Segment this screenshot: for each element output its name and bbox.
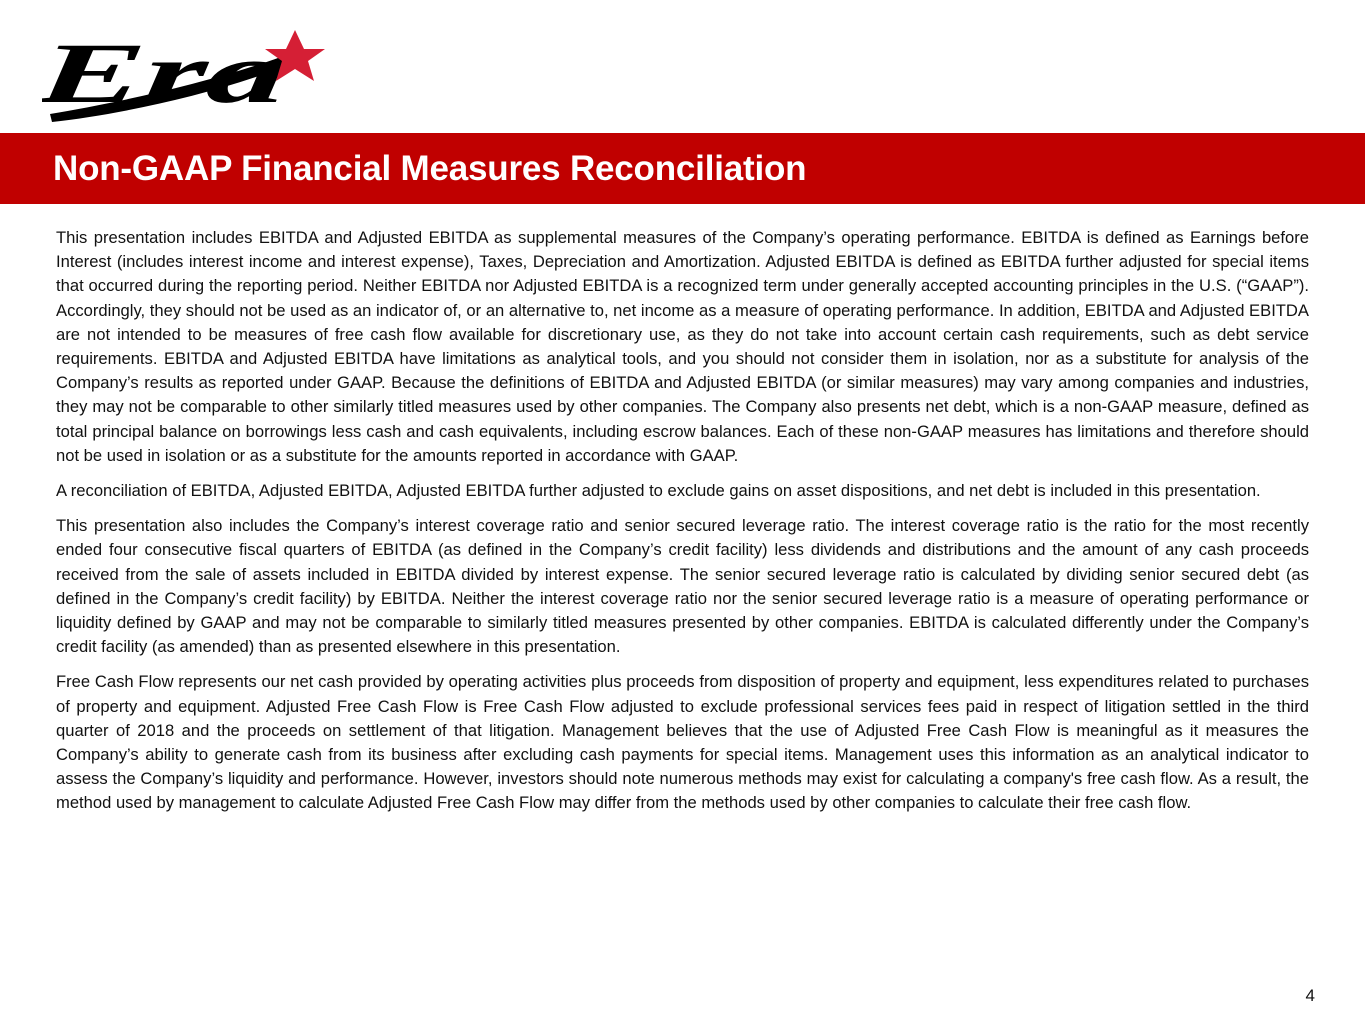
era-logo-svg: Era [42,22,342,126]
era-wordmark-icon: Era [42,25,296,122]
paragraph-3: This presentation also includes the Comp… [56,514,1309,659]
title-banner: Non-GAAP Financial Measures Reconciliati… [0,133,1365,204]
paragraph-2: A reconciliation of EBITDA, Adjusted EBI… [56,479,1309,503]
paragraph-1: This presentation includes EBITDA and Ad… [56,226,1309,468]
paragraph-4: Free Cash Flow represents our net cash p… [56,670,1309,815]
company-logo: Era [42,22,342,126]
body-copy: This presentation includes EBITDA and Ad… [56,226,1309,816]
page-number: 4 [1306,987,1315,1004]
slide-root: Era Non-GAAP Financial Measures Reconcil… [0,0,1365,1024]
page-title: Non-GAAP Financial Measures Reconciliati… [53,151,806,186]
